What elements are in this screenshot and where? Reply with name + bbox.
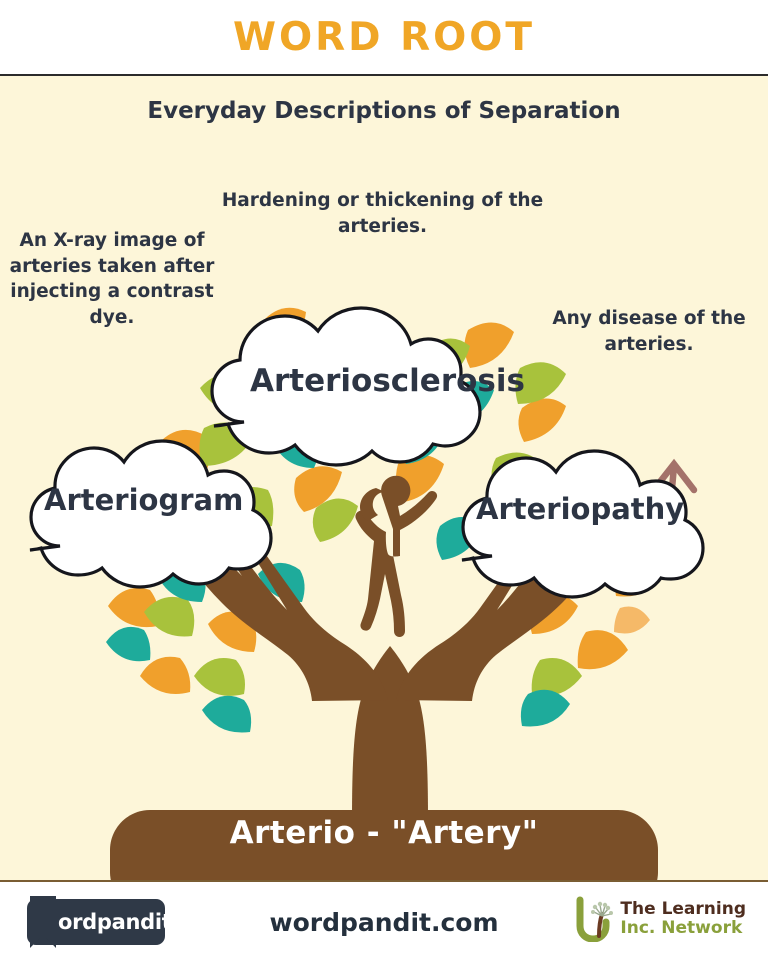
partner-line-1: The Learning (620, 900, 746, 919)
tree-u-icon (575, 896, 613, 942)
cloud-label-arteriosclerosis: Arteriosclerosis (250, 363, 525, 399)
footer-bar: wordpandit.com ordpandit The Learning (0, 880, 768, 960)
page-title: WORD ROOT (233, 15, 535, 60)
cloud-label-arteriopathy: Arteriopathy (476, 492, 684, 526)
cloud-label-arteriogram: Arteriogram (44, 483, 243, 517)
wordpandit-logo[interactable]: ordpandit (27, 899, 165, 945)
root-word-label: Arterio - "Artery" (0, 815, 768, 851)
the-learning-inc-network-text: The Learning Inc. Network (620, 900, 746, 938)
description-arteriogram: An X-ray image of arteries taken after i… (2, 228, 222, 330)
partner-line-2: Inc. Network (620, 919, 746, 938)
tree-illustration (0, 60, 768, 880)
bookmark-icon (30, 896, 56, 948)
wordpandit-logo-text: ordpandit (58, 910, 172, 934)
description-arteriopathy: Any disease of the arteries. (533, 306, 765, 357)
description-arteriosclerosis: Hardening or thickening of the arteries. (190, 188, 575, 239)
infographic-page: WORD ROOT Everyday Descriptions of Separ… (0, 0, 768, 960)
the-learning-inc-network-logo[interactable]: The Learning Inc. Network (575, 896, 746, 942)
child-silhouette (355, 476, 437, 637)
